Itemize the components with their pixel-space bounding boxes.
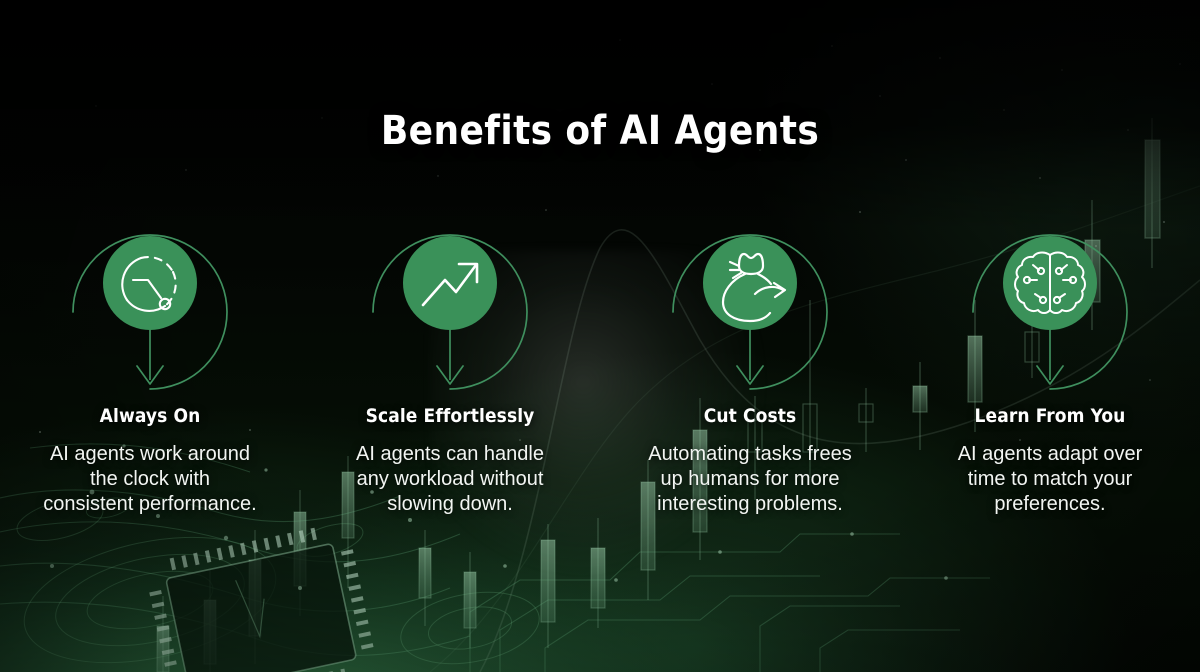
benefit-description: Automating tasks frees up humans for mor…: [643, 442, 857, 517]
badge-learn-from-you: [955, 208, 1145, 393]
benefit-title: Cut Costs: [704, 405, 797, 427]
badge-cut-costs: [655, 208, 845, 393]
benefit-description: AI agents adapt over time to match your …: [943, 442, 1157, 517]
benefits-row: Always On AI agents work around the cloc…: [0, 208, 1200, 517]
page-title: Benefits of AI Agents: [0, 108, 1200, 154]
benefit-card-always-on[interactable]: Always On AI agents work around the cloc…: [0, 208, 300, 517]
infographic-canvas: Benefits of AI Agents: [0, 0, 1200, 672]
icon-disc-background: [703, 236, 797, 330]
benefit-title: Always On: [100, 405, 201, 427]
benefit-title: Scale Effortlessly: [366, 405, 535, 427]
benefit-description: AI agents can handle any workload withou…: [343, 442, 557, 517]
badge-always-on: [55, 208, 245, 393]
benefit-card-cut-costs[interactable]: Cut Costs Automating tasks frees up huma…: [600, 208, 900, 517]
benefit-card-scale-effortlessly[interactable]: Scale Effortlessly AI agents can handle …: [300, 208, 600, 517]
benefit-title: Learn From You: [975, 405, 1126, 427]
benefit-description: AI agents work around the clock with con…: [43, 442, 257, 517]
icon-disc-background: [403, 236, 497, 330]
badge-scale-effortlessly: [355, 208, 545, 393]
benefit-card-learn-from-you[interactable]: Learn From You AI agents adapt over time…: [900, 208, 1200, 517]
